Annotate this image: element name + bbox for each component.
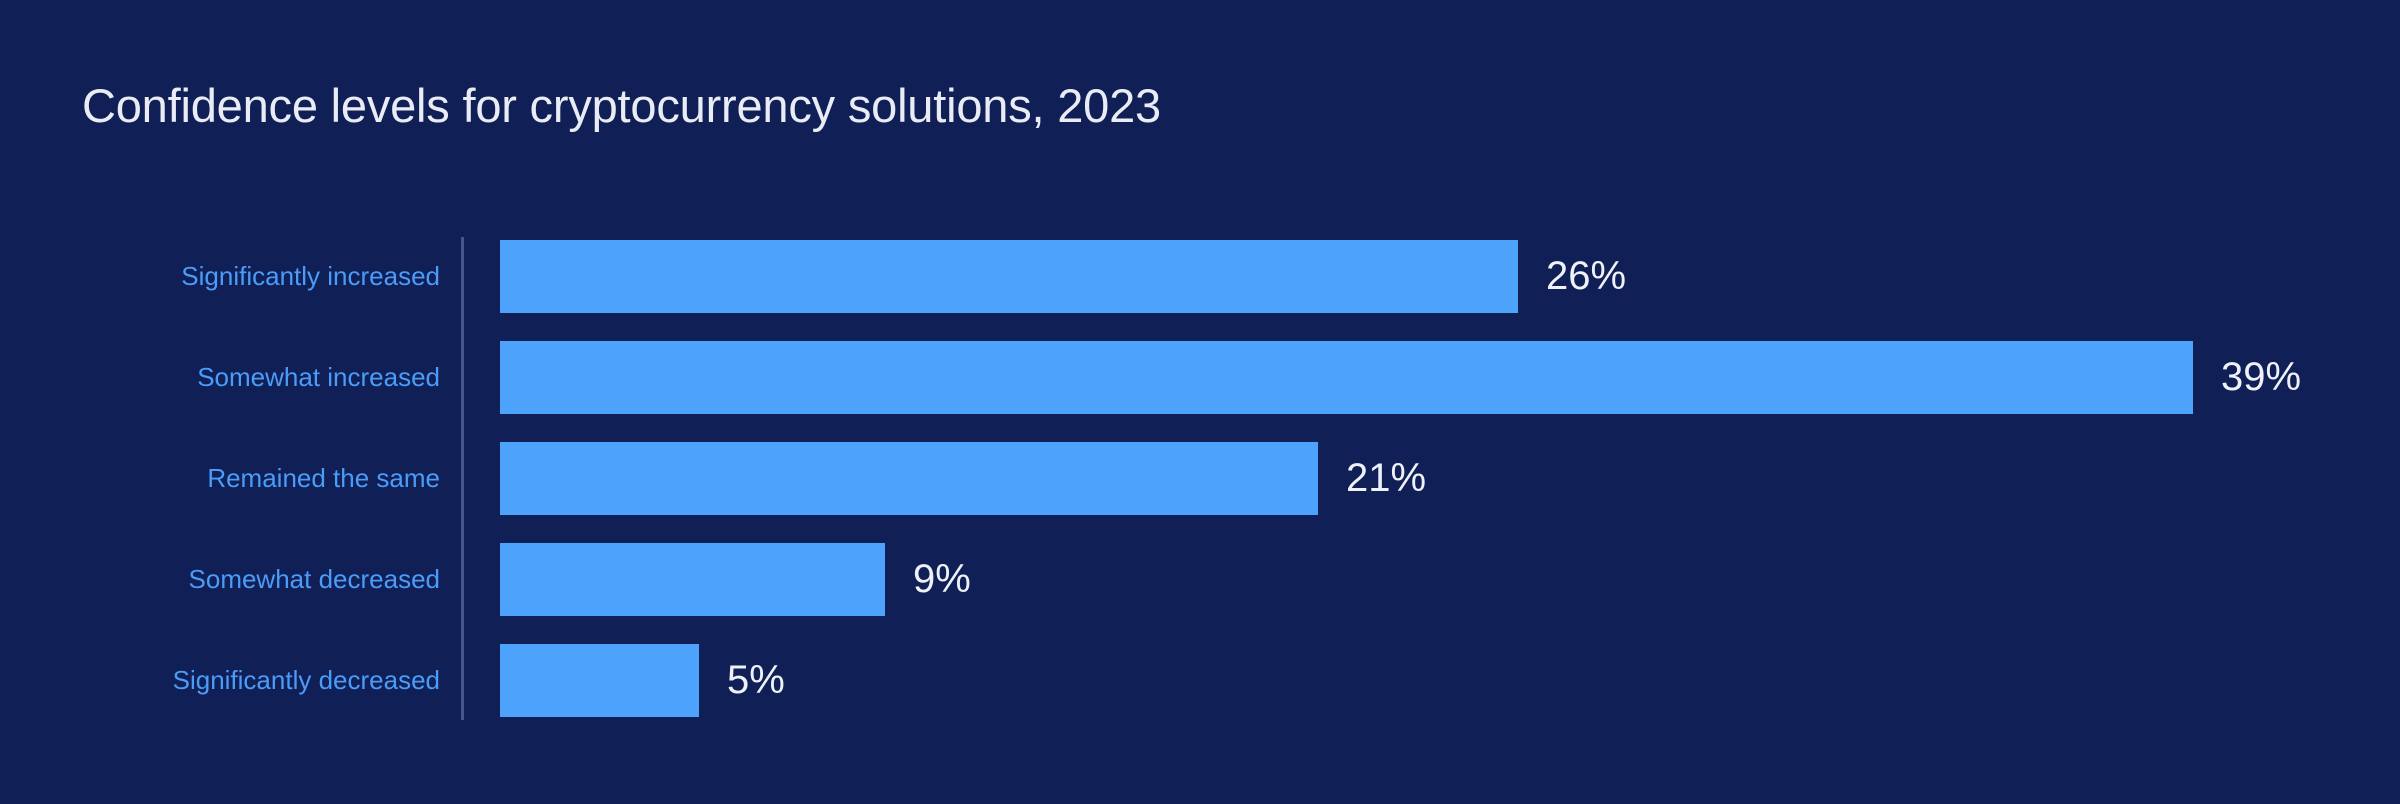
- chart-container: Confidence levels for cryptocurrency sol…: [0, 0, 2400, 804]
- bar-row: Remained the same 21%: [0, 442, 2400, 515]
- bar-significantly-decreased[interactable]: [500, 644, 699, 717]
- bar-group: 5%: [500, 644, 785, 717]
- category-label-significantly-decreased: Significantly decreased: [0, 644, 440, 717]
- bar-row: Somewhat increased 39%: [0, 341, 2400, 414]
- bar-row: Somewhat decreased 9%: [0, 543, 2400, 616]
- plot-area: Significantly increased 26% Somewhat inc…: [0, 237, 2400, 720]
- bar-significantly-increased[interactable]: [500, 240, 1518, 313]
- bar-value-somewhat-increased: 39%: [2221, 341, 2301, 414]
- bar-group: 39%: [500, 341, 2301, 414]
- bar-row: Significantly increased 26%: [0, 240, 2400, 313]
- bar-group: 9%: [500, 543, 971, 616]
- category-label-significantly-increased: Significantly increased: [0, 240, 440, 313]
- bar-group: 26%: [500, 240, 1626, 313]
- bar-value-significantly-increased: 26%: [1546, 240, 1626, 313]
- bar-somewhat-increased[interactable]: [500, 341, 2193, 414]
- bar-row: Significantly decreased 5%: [0, 644, 2400, 717]
- bar-group: 21%: [500, 442, 1426, 515]
- bar-remained-the-same[interactable]: [500, 442, 1318, 515]
- category-label-somewhat-decreased: Somewhat decreased: [0, 543, 440, 616]
- category-label-remained-the-same: Remained the same: [0, 442, 440, 515]
- bar-value-significantly-decreased: 5%: [727, 644, 785, 717]
- bar-series: Significantly increased 26% Somewhat inc…: [0, 237, 2400, 720]
- chart-title: Confidence levels for cryptocurrency sol…: [82, 82, 1161, 129]
- bar-value-remained-the-same: 21%: [1346, 442, 1426, 515]
- bar-somewhat-decreased[interactable]: [500, 543, 885, 616]
- bar-value-somewhat-decreased: 9%: [913, 543, 971, 616]
- category-label-somewhat-increased: Somewhat increased: [0, 341, 440, 414]
